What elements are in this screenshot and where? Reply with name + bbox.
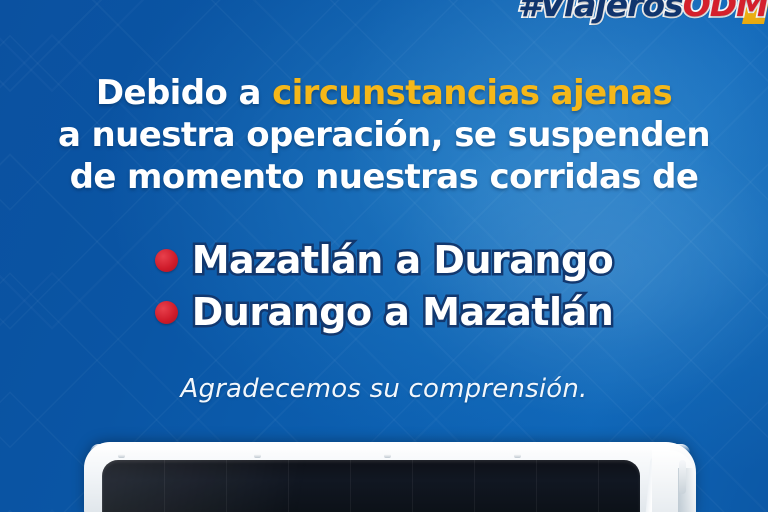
bus-rivet [254,454,261,458]
suspended-routes-list: Mazatlán a Durango Durango a Mazatlán [0,234,768,338]
bus-mirror [679,460,686,494]
thanks-message: Agradecemos su comprensión. [0,374,768,404]
headline-line-1-accent: circunstancias ajenas [272,73,672,113]
bus-window-strip [102,460,640,512]
hashtag-suffix: ODM [683,0,768,21]
announcement-poster: #ViajerosODM Debido a circunstancias aje… [0,0,768,512]
hashtag-prefix: #Viajeros [518,0,683,21]
route-item: Durango a Mazatlán [0,286,768,338]
bus-rivet [514,454,521,458]
route-item: Mazatlán a Durango [0,234,768,286]
bullet-dot-icon [155,301,178,324]
headline-line-1-plain: Debido a [96,73,272,113]
bus-rivet [118,454,125,458]
route-label: Durango a Mazatlán [192,293,614,331]
headline-block: Debido a circunstancias ajenas a nuestra… [0,72,768,198]
headline-line-1: Debido a circunstancias ajenas [0,72,768,114]
headline-line-2: a nuestra operación, se suspenden [0,114,768,156]
bus-roof-highlight [90,444,690,453]
route-label: Mazatlán a Durango [192,241,614,279]
bullet-dot-icon [155,249,178,272]
bus-rivet [384,454,391,458]
coach-bus-icon [84,442,696,512]
hashtag-logo: #ViajerosODM [518,0,768,21]
headline-line-3: de momento nuestras corridas de [0,156,768,198]
